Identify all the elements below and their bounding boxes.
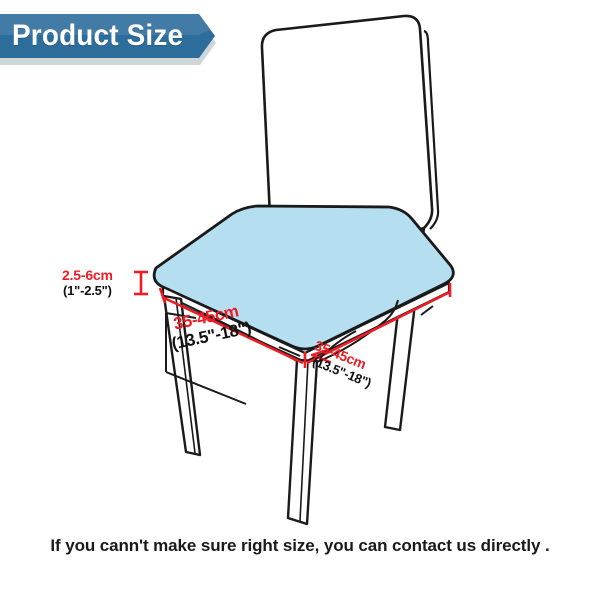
chair-leg-front-center: [288, 360, 317, 524]
dimension-height-bar: [134, 272, 148, 294]
chair-diagram: [0, 0, 600, 600]
leader-dash-right: [421, 306, 433, 315]
seat-height-cm: 2.5-6cm: [62, 268, 113, 283]
product-size-infographic: Product Size: [0, 0, 600, 600]
seat-height-inch: (1"-2.5"): [62, 284, 113, 298]
dimension-label-seat-height: 2.5-6cm (1"-2.5"): [62, 268, 113, 297]
footer-caption: If you cann't make sure right size, you …: [0, 536, 600, 556]
